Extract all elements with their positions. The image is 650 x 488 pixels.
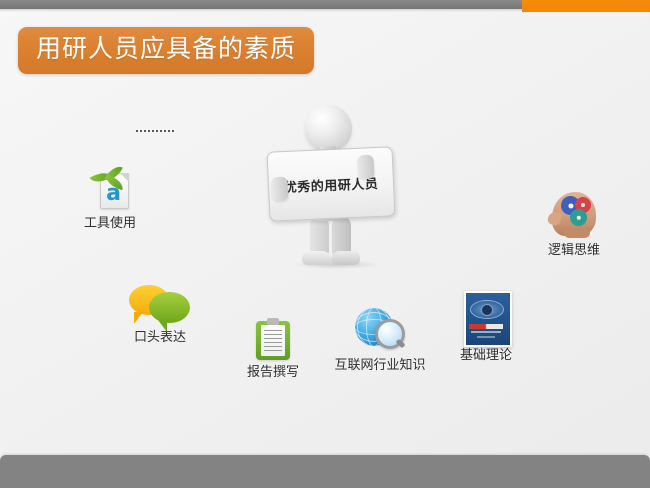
book-subtitle-band bbox=[471, 331, 501, 333]
skill-label: 基础理论 bbox=[442, 348, 530, 364]
slide-title-banner: 用研人员应具备的素质 bbox=[18, 27, 314, 74]
head-gears-icon bbox=[548, 190, 600, 238]
skill-label: 逻辑思维 bbox=[529, 243, 619, 259]
skill-item-basic-theory: 基础理论 bbox=[442, 291, 530, 364]
figure-hand-left bbox=[271, 176, 289, 201]
top-bar-gray bbox=[0, 0, 522, 9]
dotted-decoration bbox=[136, 130, 174, 132]
book-icon bbox=[464, 291, 508, 343]
book-author-band bbox=[477, 336, 495, 338]
skill-label: 工具使用 bbox=[60, 216, 160, 232]
skill-label: 报告撰写 bbox=[230, 365, 316, 381]
clipboard-clamp bbox=[267, 318, 279, 325]
gear-red-icon bbox=[577, 199, 589, 211]
central-figure: 优秀的用研人员 bbox=[276, 105, 396, 265]
globe-magnifier-icon bbox=[355, 307, 405, 353]
speech-bubbles-icon bbox=[129, 283, 191, 325]
bottom-bar bbox=[0, 455, 650, 488]
speech-bubble-green bbox=[149, 292, 190, 323]
slide-title-text: 用研人员应具备的素质 bbox=[36, 34, 296, 64]
gear-teal-icon bbox=[572, 211, 585, 224]
book-eye-pupil bbox=[481, 304, 493, 316]
skill-item-verbal-expression: 口头表达 bbox=[110, 283, 210, 346]
document-leaf-icon: a bbox=[88, 165, 132, 211]
book-title-band bbox=[469, 324, 503, 329]
top-bar-shadow bbox=[0, 9, 522, 12]
clipboard-text-lines bbox=[264, 330, 282, 354]
skill-label: 口头表达 bbox=[110, 330, 210, 346]
clipboard-icon bbox=[256, 318, 290, 360]
skill-item-internet-knowledge: 互联网行业知识 bbox=[330, 307, 430, 374]
top-bar-orange-accent bbox=[522, 0, 650, 12]
head-neck bbox=[564, 228, 590, 238]
figure-head bbox=[305, 105, 352, 152]
figure-hand-right bbox=[357, 154, 375, 179]
skill-item-logical-thinking: 逻辑思维 bbox=[529, 190, 619, 259]
skill-item-tool-usage: a 工具使用 bbox=[60, 165, 160, 232]
skill-item-report-writing: 报告撰写 bbox=[230, 318, 316, 381]
figure-foot-right bbox=[331, 251, 360, 265]
skill-label: 互联网行业知识 bbox=[330, 358, 430, 374]
slide-canvas: 用研人员应具备的素质 优秀的用研人员 a 工具使用 bbox=[0, 0, 650, 488]
figure-foot-left bbox=[302, 251, 331, 265]
